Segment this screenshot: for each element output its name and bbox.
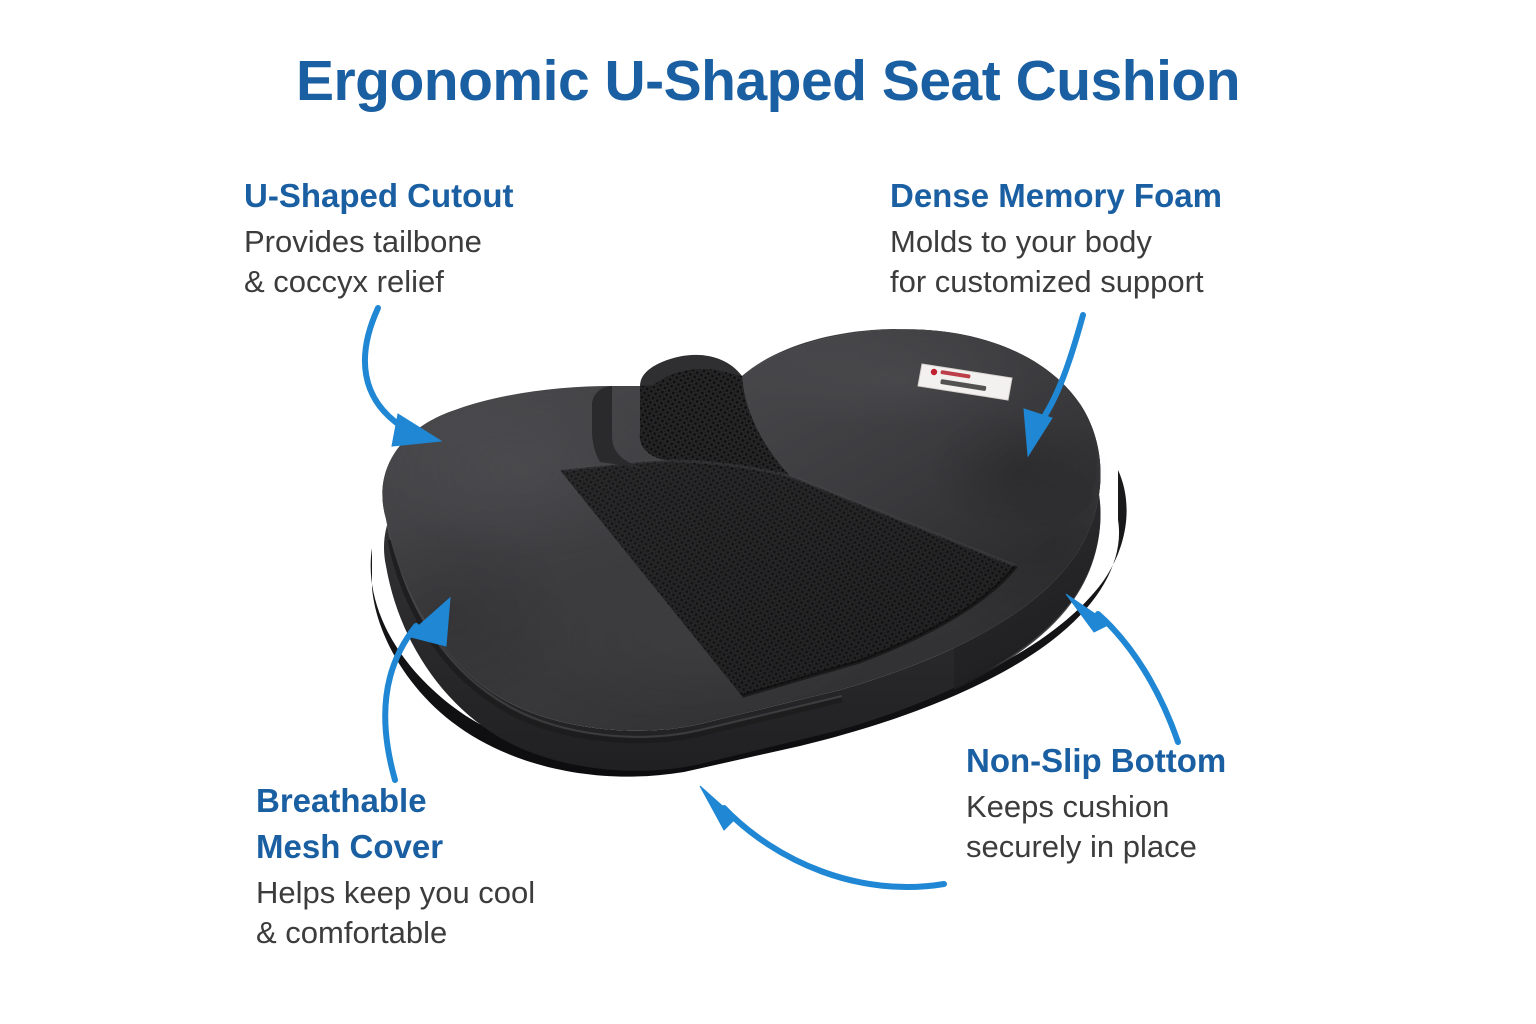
arrow-non-slip-bottom-center [700,786,944,887]
callout-breathable-mesh-cover: Breathable Mesh Cover Helps keep you coo… [256,781,535,953]
callout-body-line-1: Molds to your body [890,222,1222,262]
callout-heading: U-Shaped Cutout [244,176,513,216]
arrow-non-slip-bottom-right [1066,594,1178,742]
arrow-breathable-mesh-cover [385,598,450,780]
product-image [0,0,1536,1024]
callout-heading: Non-Slip Bottom [966,741,1226,781]
callout-body-line-1: Helps keep you cool [256,873,535,913]
callout-non-slip-bottom: Non-Slip Bottom Keeps cushion securely i… [966,741,1226,867]
cushion-seam [390,540,842,741]
callout-body-line-2: & coccyx relief [244,262,513,302]
callout-heading: Dense Memory Foam [890,176,1222,216]
callout-dense-memory-foam: Dense Memory Foam Molds to your body for… [890,176,1222,302]
product-label-tag [918,364,1012,400]
cushion-back-riser [640,329,1080,462]
page-title: Ergonomic U-Shaped Seat Cushion [0,48,1536,114]
infographic-page: Ergonomic U-Shaped Seat Cushion [0,0,1536,1024]
cushion-top-surface [330,290,1170,731]
callout-body-line-1: Keeps cushion [966,787,1226,827]
cushion-nonslip-base [371,470,1127,777]
u-shaped-cutout-notch [592,386,644,468]
arrow-u-shaped-cutout [365,308,441,446]
callout-body-line-1: Provides tailbone [244,222,513,262]
callout-body-line-2: securely in place [966,827,1226,867]
callout-heading-line-1: Breathable [256,781,535,821]
callout-body-line-2: for customized support [890,262,1222,302]
cushion-back-face [742,329,1110,566]
arrow-dense-memory-foam [1024,315,1083,456]
cushion-side-wall [382,404,1100,771]
callout-body-line-2: & comfortable [256,913,535,953]
cushion-mesh-panel [560,369,1016,696]
callout-u-shaped-cutout: U-Shaped Cutout Provides tailbone & cocc… [244,176,513,302]
callout-heading-line-2: Mesh Cover [256,827,535,867]
